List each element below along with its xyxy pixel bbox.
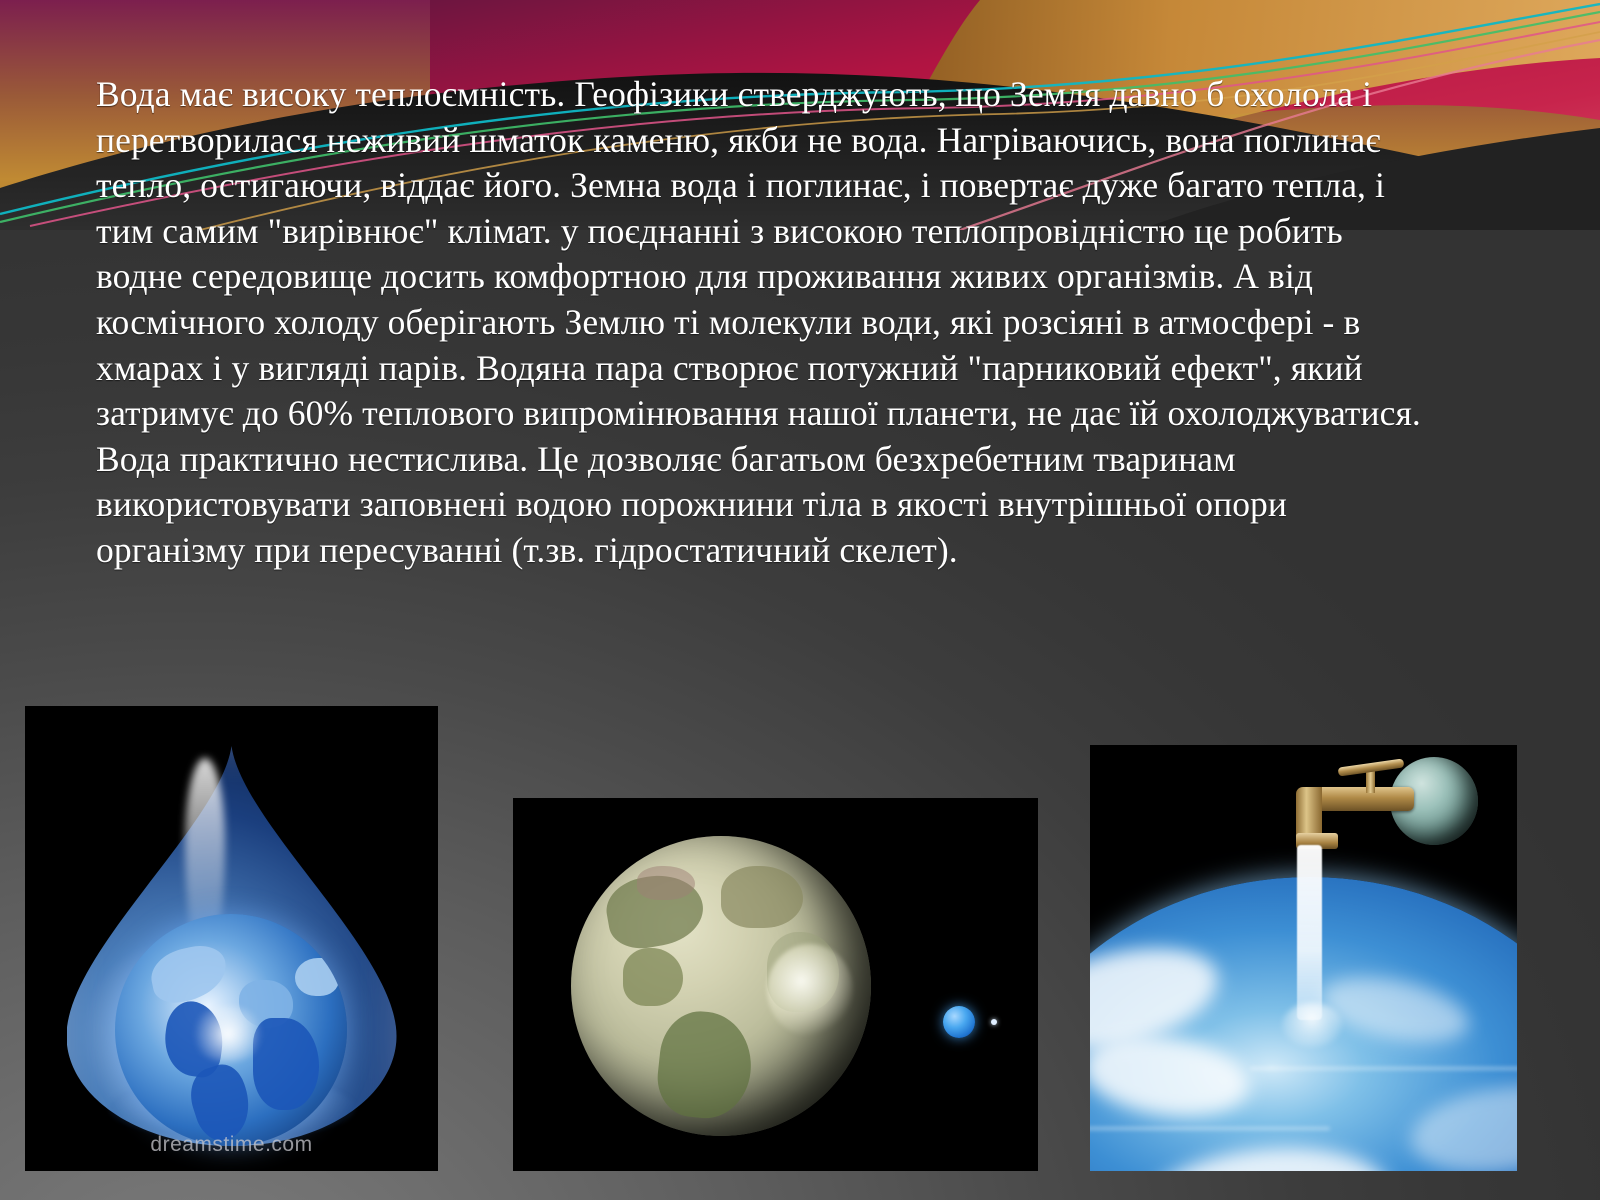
landmass — [295, 958, 339, 996]
slide-body-text: Вода має високу теплоємність. Геофізики … — [96, 72, 1426, 574]
water-drop-canvas: dreamstime.com — [25, 706, 438, 1171]
earth-specular-highlight — [767, 944, 853, 1036]
dreamstime-watermark: dreamstime.com — [150, 1133, 312, 1157]
continent — [721, 866, 803, 928]
cloud — [1405, 1074, 1517, 1171]
landmass — [146, 941, 231, 1008]
image-water-drop-with-globe: dreamstime.com — [25, 706, 438, 1171]
water-stream — [1297, 845, 1322, 1020]
total-water-sphere-icon — [943, 1006, 975, 1038]
faucet-valve-stem-icon — [1366, 769, 1375, 793]
continent — [637, 866, 695, 900]
faucet-pipe-icon — [1306, 787, 1414, 811]
globe-specular-highlight — [189, 1006, 267, 1062]
image-earth-without-water-and-water-sphere — [513, 798, 1038, 1171]
presentation-slide: Вода має високу теплоємність. Геофізики … — [0, 0, 1600, 1200]
water-drop-graphic — [67, 746, 397, 1146]
space-scene-canvas — [513, 798, 1038, 1171]
globe-icon — [115, 914, 347, 1146]
cloud — [1090, 1026, 1255, 1127]
water-splash — [1282, 1003, 1342, 1047]
ocean-streak — [1090, 1127, 1330, 1130]
cloud — [1316, 966, 1475, 1054]
continent — [654, 1007, 757, 1122]
dry-earth-globe-icon — [571, 836, 871, 1136]
faucet-scene-canvas — [1090, 745, 1517, 1171]
continent — [623, 948, 683, 1006]
freshwater-sphere-icon — [991, 1019, 997, 1025]
watermark-text: dreamstime.com — [150, 1133, 312, 1156]
ocean-streak — [1250, 1067, 1517, 1070]
image-faucet-pouring-water-over-earth — [1090, 745, 1517, 1171]
cloud — [1135, 1136, 1395, 1171]
